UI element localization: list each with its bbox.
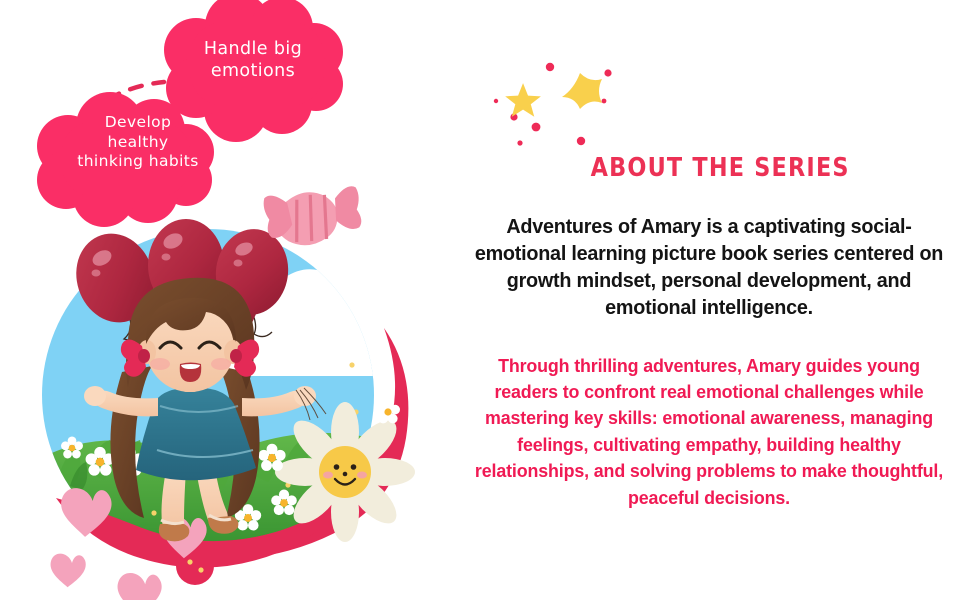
- page-title: ABOUT THE SERIES: [485, 153, 934, 183]
- bubble-handle-big-emotions: [164, 0, 343, 142]
- confetti-dots: [494, 63, 612, 146]
- outline-star-icon: [505, 83, 541, 117]
- intro-paragraph: Adventures of Amary is a captivating soc…: [465, 213, 953, 322]
- poster-canvas: Handle big emotions Develop healthy thin…: [0, 0, 970, 600]
- filled-star-icon: [562, 73, 602, 109]
- about-series-panel: ABOUT THE SERIES Adventures of Amary is …: [448, 0, 970, 600]
- detail-paragraph: Through thrilling adventures, Amary guid…: [466, 353, 952, 511]
- thought-bubbles: Handle big emotions Develop healthy thin…: [0, 0, 360, 230]
